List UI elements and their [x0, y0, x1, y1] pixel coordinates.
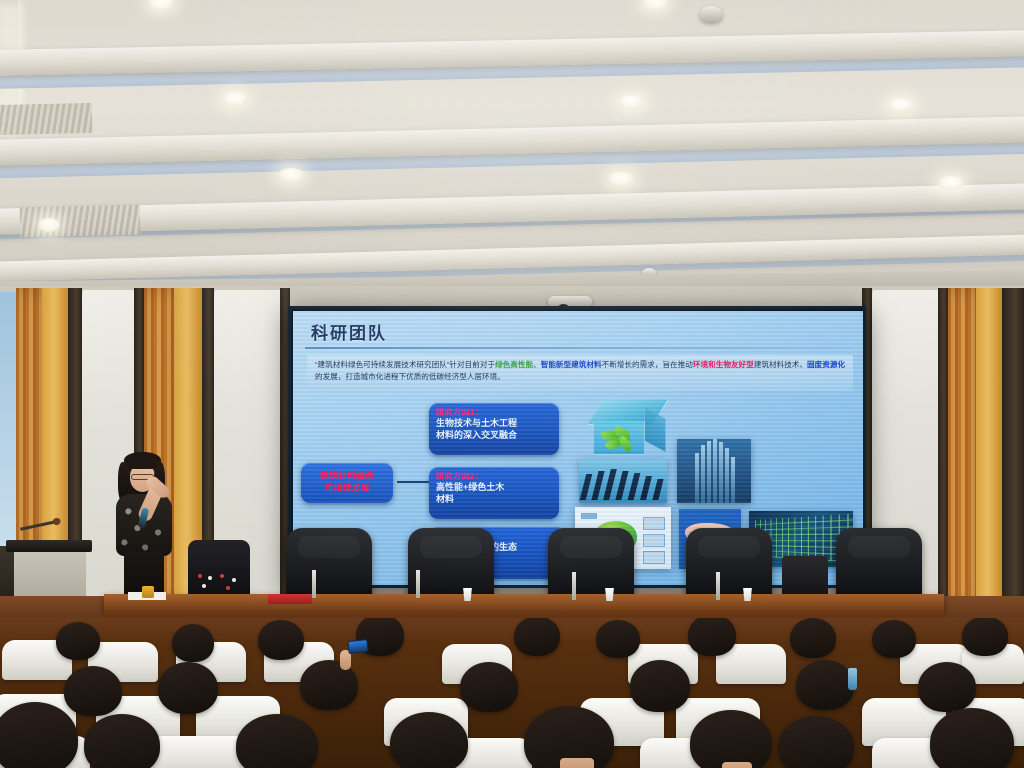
topic-box-line-2: 可持续发展 — [320, 483, 374, 495]
skyscraper-image — [677, 439, 751, 503]
audience-head — [258, 620, 304, 660]
green-cube-image — [593, 399, 667, 457]
audience-head — [872, 620, 916, 658]
audience-head — [778, 716, 854, 768]
direction-1-line-2: 材料的深入交叉融合 — [436, 430, 552, 442]
ceiling — [0, 0, 1024, 300]
topic-box-line-1: 建筑材料绿色 — [320, 471, 374, 483]
audience-head — [84, 714, 160, 768]
topic-box-sustainable-materials: 建筑材料绿色 可持续发展 — [301, 463, 393, 503]
audience-neck — [722, 762, 752, 768]
conference-hall-scene: 科研团队 “建筑材料绿色可持续发展技术研究团队”针对目前对于绿色高性能、智能新型… — [0, 0, 1024, 768]
audience-head — [236, 714, 318, 768]
red-nameplate — [268, 594, 312, 604]
ceiling-beam — [0, 182, 1024, 235]
slide-intro-paragraph: “建筑材料绿色可持续发展技术研究团队”针对目前对于绿色高性能、智能新型建筑材料不… — [307, 355, 853, 391]
ceiling-air-vent — [0, 103, 92, 135]
audience-head — [690, 710, 772, 768]
desk-microphone — [572, 572, 576, 600]
stage-chair — [286, 528, 372, 600]
desk-microphone — [716, 572, 720, 600]
intro-highlight-blue-1: 智能新型建筑材料 — [541, 360, 602, 369]
downlight — [888, 98, 914, 112]
audience-neck — [560, 758, 594, 768]
downlight — [0, 30, 18, 40]
audience-head — [796, 660, 854, 710]
av-control-console — [188, 540, 250, 598]
audience-head — [962, 618, 1008, 656]
wall-dark-trim — [938, 288, 948, 610]
wood-slat-panel — [948, 288, 976, 608]
audience-head — [630, 660, 690, 712]
downlight — [278, 168, 304, 182]
downlight — [148, 0, 174, 10]
stage-chair — [548, 528, 634, 600]
audience-head — [514, 618, 560, 656]
downlight — [938, 176, 964, 190]
water-bottle — [848, 668, 857, 690]
downlight — [0, 20, 18, 30]
intro-part-3: 建筑材料技术、 — [754, 360, 807, 369]
desk-item — [142, 586, 154, 598]
downlight — [0, 90, 18, 100]
audience-head — [158, 662, 218, 714]
title-divider — [305, 347, 853, 349]
audience-head — [64, 666, 122, 716]
intro-highlight-red-1: 环境和生物友好型 — [693, 360, 754, 369]
intro-part-2: 不断增长的需求，旨在推动 — [602, 360, 693, 369]
research-direction-box-2: 研究方向2： 高性能+绿色土木 材料 — [429, 467, 559, 519]
intro-highlight-green-1: 绿色高性能 — [495, 360, 533, 369]
cube-side-face — [644, 407, 666, 453]
audience-head — [460, 662, 518, 712]
desk-microphone — [416, 570, 420, 598]
intro-part-4: 的发展，打造城市化进程下优质的低碳经济型人居环境。 — [315, 372, 505, 381]
desk-microphone — [312, 570, 316, 598]
audience-head — [56, 622, 100, 660]
direction-2-line-2: 材料 — [436, 494, 552, 506]
smartphone — [347, 639, 368, 654]
presenter — [108, 452, 182, 604]
intro-part-1: “建筑材料绿色可持续发展技术研究团队”针对目前对于 — [315, 360, 495, 369]
downlight — [222, 92, 248, 106]
audience-head — [596, 620, 640, 658]
cube-front-face — [593, 421, 645, 455]
leaf-icon — [617, 435, 635, 452]
solar-panel-image — [579, 459, 667, 503]
stage-chair — [686, 528, 772, 600]
downlight — [618, 95, 644, 109]
direction-1-label: 研究方向1： — [436, 407, 552, 418]
slide-title: 科研团队 — [311, 319, 387, 344]
audience-head — [172, 624, 214, 662]
intro-highlight-blue-2: 固废资源化 — [807, 360, 845, 369]
audience-head — [688, 618, 736, 656]
downlight — [642, 0, 668, 10]
direction-2-line-1: 高性能+绿色土木 — [436, 482, 552, 494]
smoke-detector-icon — [700, 6, 722, 22]
audience — [0, 618, 1024, 768]
audience-head — [790, 618, 836, 658]
podium-top — [6, 540, 92, 552]
audience-head — [918, 662, 976, 712]
audience-head — [930, 708, 1014, 768]
topic-box-text: 建筑材料绿色 可持续发展 — [320, 471, 374, 494]
audience-head — [390, 712, 468, 768]
stage-chair — [408, 528, 494, 600]
downlight — [38, 218, 60, 232]
ceiling-air-vent — [20, 205, 141, 238]
wood-gold-panel — [976, 288, 1002, 608]
direction-1-line-1: 生物技术与土木工程 — [436, 418, 552, 430]
downlight — [608, 172, 634, 186]
downlight — [0, 0, 18, 10]
downlight — [0, 40, 18, 50]
stage-chair — [836, 528, 922, 600]
downlight — [0, 10, 18, 20]
direction-2-label: 研究方向2： — [436, 471, 552, 482]
intro-sep-1: 、 — [533, 360, 541, 369]
wall-dark-trim — [1002, 288, 1024, 610]
research-direction-box-1: 研究方向1： 生物技术与土木工程 材料的深入交叉融合 — [429, 403, 559, 455]
